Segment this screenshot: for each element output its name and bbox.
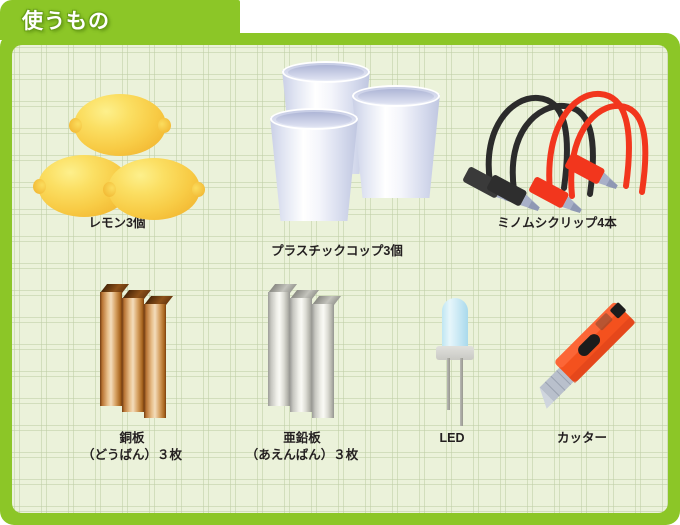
alligator-clip-icon xyxy=(452,70,662,215)
plastic-cup-icon xyxy=(222,53,452,215)
item-alligator-clips: ミノムシクリップ4本 xyxy=(452,70,662,232)
box-cutter-icon xyxy=(502,280,662,430)
page-title: 使うもの xyxy=(22,5,110,35)
item-lemons: レモン3個 xyxy=(22,70,212,232)
item-label: プラスチックコップ3個 xyxy=(222,243,452,260)
item-cutter: カッター xyxy=(502,280,662,447)
title-tab: 使うもの xyxy=(0,0,240,40)
content-panel: レモン3個 プラスチックコップ3個 xyxy=(12,45,668,513)
item-plastic-cups: プラスチックコップ3個 xyxy=(222,53,452,260)
item-label: カッター xyxy=(502,430,662,447)
illustration-page: 使うもの レモン3個 xyxy=(0,0,680,525)
item-label: レモン3個 xyxy=(22,215,212,232)
item-label: ミノムシクリップ4本 xyxy=(452,215,662,232)
lemon-icon xyxy=(22,70,212,215)
